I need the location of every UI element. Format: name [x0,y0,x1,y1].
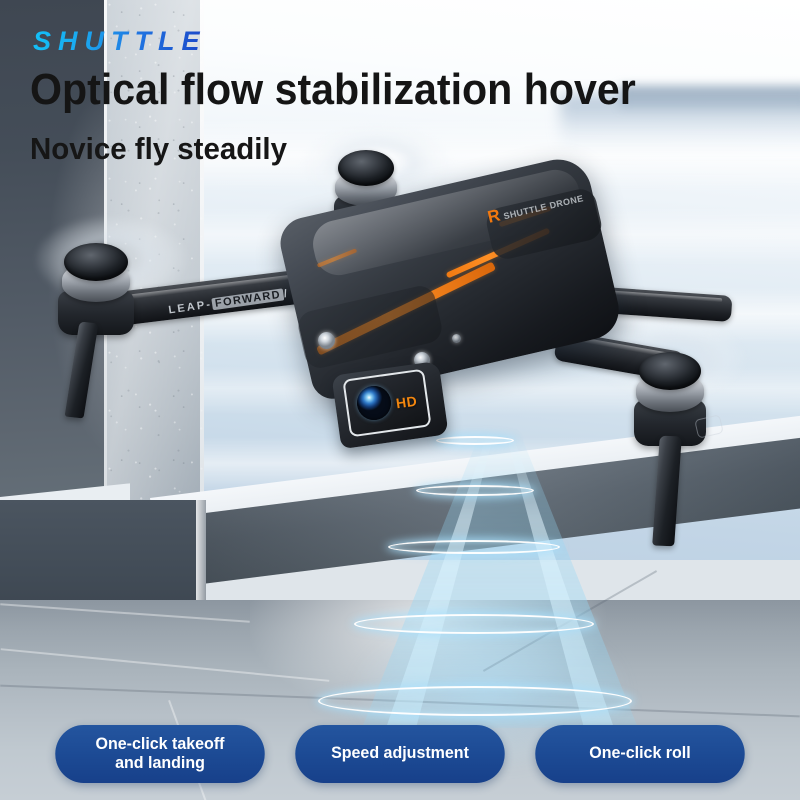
landing-leg-rear-left [65,322,99,419]
pill-label-line1: One-click takeoff [96,735,225,754]
brand-logo: SHUTTLE [33,26,207,57]
page-subtitle: Novice fly steadily [30,133,287,164]
camera-hd-label: HD [395,393,418,412]
pill-label-line1: One-click roll [589,744,690,763]
motor-cap-front-left [338,150,394,186]
drone-product-image: R SHUTTLE DRONE LEAP-FORWARD/ HD [0,0,800,800]
front-led-left [318,332,335,349]
pill-label-line1: Speed adjustment [331,744,469,763]
camera-emblem-icon [694,414,724,438]
motor-cap-rear-left [64,243,128,281]
front-led-small [452,334,461,343]
pill-label-line2: and landing [96,754,225,773]
landing-leg-rear-right [652,436,682,547]
feature-pill-group: One-click takeoff and landing Speed adju… [0,725,800,783]
motor-cap-rear-right [639,352,701,390]
drone-body [292,186,608,370]
product-banner: R SHUTTLE DRONE LEAP-FORWARD/ HD SHUTTLE… [0,0,800,800]
feature-pill-speed-adjustment[interactable]: Speed adjustment [295,725,505,783]
page-title: Optical flow stabilization hover [30,68,636,112]
feature-pill-one-click-roll[interactable]: One-click roll [535,725,745,783]
feature-pill-one-click-takeoff[interactable]: One-click takeoff and landing [55,725,265,783]
